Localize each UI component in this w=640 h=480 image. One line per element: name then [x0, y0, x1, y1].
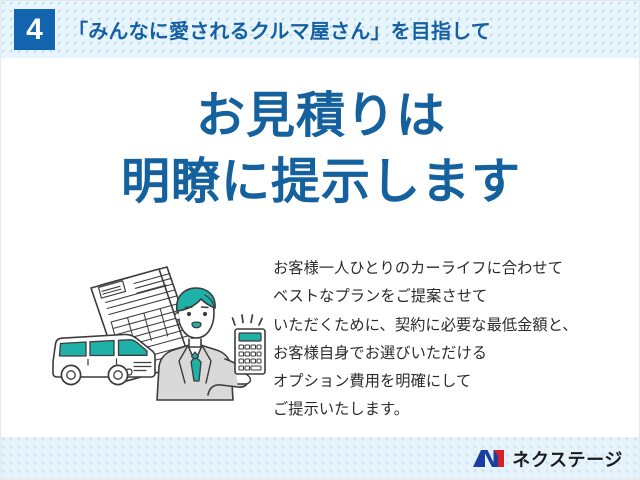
- description-line: お客様一人ひとりのカーライフに合わせて: [273, 254, 633, 282]
- brand-logo: ネクステージ: [472, 437, 623, 480]
- description-line: いただくために、契約に必要な最低金額と、: [273, 311, 633, 339]
- brand-logo-text: ネクステージ: [512, 446, 623, 472]
- sparkle-marks: [233, 315, 263, 325]
- van-vehicle: [53, 334, 155, 384]
- step-number-badge: 4: [14, 9, 55, 50]
- header-content: 4 「みんなに愛されるクルマ屋さん」を目指して: [1, 1, 640, 58]
- headline-line-2: 明瞭に提示します: [1, 150, 640, 214]
- nextage-n-logo-icon: [472, 448, 505, 470]
- page-headline: お見積りは 明瞭に提示します: [1, 84, 640, 213]
- calculator: [235, 329, 265, 374]
- description-line: ご提示いたします。: [273, 395, 633, 423]
- header-band: 4 「みんなに愛されるクルマ屋さん」を目指して: [1, 1, 640, 58]
- description-line: お客様自身でお選びいただける: [273, 339, 633, 367]
- main-content: お見積りは 明瞭に提示します お客様一人ひとりのカーライフに合わせて ベストなプ…: [1, 58, 640, 437]
- footer-band: ネクステージ: [1, 437, 640, 480]
- illustration: [39, 255, 279, 415]
- header-title: 「みんなに愛されるクルマ屋さん」を目指して: [68, 15, 491, 44]
- illustration-svg: [39, 255, 279, 415]
- promo-banner-page: 4 「みんなに愛されるクルマ屋さん」を目指して お見積りは 明瞭に提示します お…: [0, 0, 640, 480]
- description-line: オプション費用を明確にして: [273, 367, 633, 395]
- headline-line-1: お見積りは: [1, 84, 640, 148]
- description-line: ベストなプランをご提案させて: [273, 282, 633, 310]
- description-block: お客様一人ひとりのカーライフに合わせて ベストなプランをご提案させて いただくた…: [273, 254, 633, 424]
